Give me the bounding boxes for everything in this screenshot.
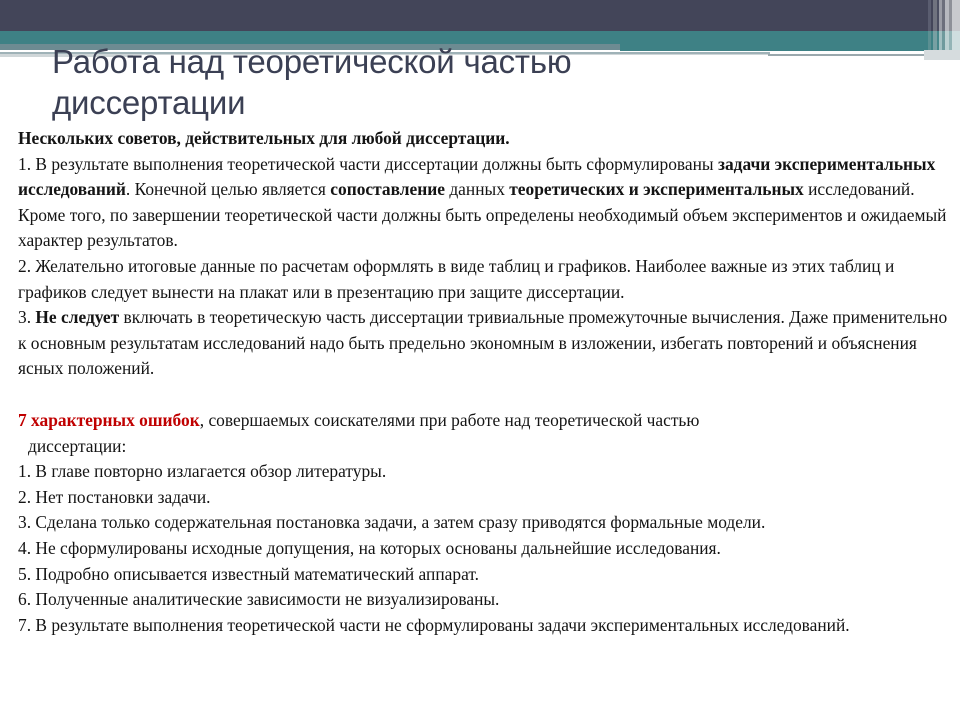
header-band-dark	[0, 0, 960, 31]
header-vertical-stripes	[924, 0, 960, 60]
errors-list: 1. В главе повторно излагается обзор лит…	[18, 459, 948, 638]
errors-list-item: 7. В результате выполнения теоретической…	[18, 613, 948, 639]
errors-heading: 7 характерных ошибок, совершаемых соиска…	[18, 408, 948, 434]
body-text: . Конечной целью является	[126, 179, 330, 199]
slide-title: Работа над теоретической частью диссерта…	[52, 41, 752, 123]
errors-list-item: 1. В главе повторно излагается обзор лит…	[18, 459, 948, 485]
errors-heading-second-line: диссертации:	[18, 434, 948, 460]
emphasis-text: теоретических и экспериментальных	[509, 179, 804, 199]
header-white-rule-upper	[770, 51, 942, 54]
body-text: 2. Желательно итоговые данные по расчета…	[18, 256, 894, 302]
errors-list-item: 2. Нет постановки задачи.	[18, 485, 948, 511]
header-stripe-10	[952, 0, 960, 60]
errors-list-item: 4. Не сформулированы исходные допущения,…	[18, 536, 948, 562]
body-text: 3.	[18, 307, 35, 327]
errors-list-item: 3. Сделана только содержательная постано…	[18, 510, 948, 536]
body-text: 1. В результате выполнения теоретической…	[18, 154, 718, 174]
advice-item-2: 2. Желательно итоговые данные по расчета…	[18, 254, 948, 305]
errors-list-item: 5. Подробно описывается известный матема…	[18, 562, 948, 588]
advice-heading: Нескольких советов, действительных для л…	[18, 126, 948, 152]
emphasis-text: сопоставление	[330, 179, 445, 199]
body-text: включать в теоретическую часть диссертац…	[18, 307, 947, 378]
emphasis-text: Не следует	[35, 307, 119, 327]
advice-item-3: 3. Не следует включать в теоретическую ч…	[18, 305, 948, 382]
errors-list-item: 6. Полученные аналитические зависимости …	[18, 587, 948, 613]
advice-item-1: 1. В результате выполнения теоретической…	[18, 152, 948, 254]
slide-body: Нескольких советов, действительных для л…	[18, 126, 948, 638]
section-spacer	[18, 382, 948, 408]
presentation-slide: Работа над теоретической частью диссерта…	[0, 0, 960, 720]
header-gray-rule	[768, 54, 948, 56]
errors-heading-accent: 7 характерных ошибок	[18, 410, 200, 430]
errors-heading-rest: , совершаемых соискателями при работе на…	[200, 410, 700, 430]
body-text: данных	[445, 179, 509, 199]
